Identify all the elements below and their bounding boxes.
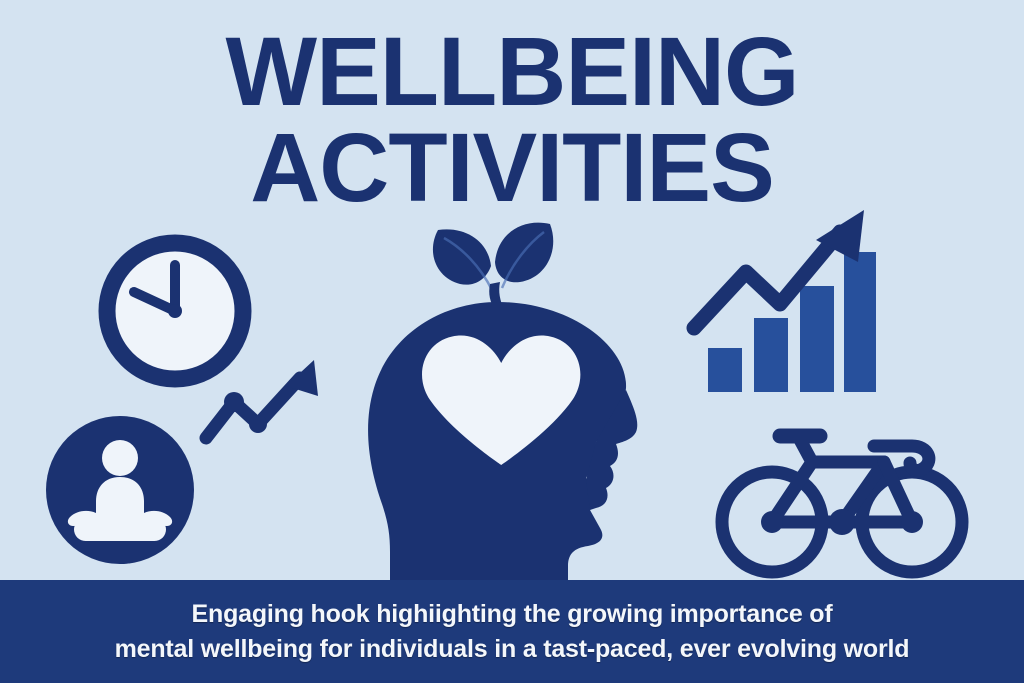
title-line-wellbeing: WELLBEING [0, 26, 1024, 118]
growth-chart-icon [688, 206, 876, 398]
head-heart-icon [338, 222, 658, 594]
title-line-activities: ACTIVITIES [0, 122, 1024, 214]
meditation-icon [44, 414, 196, 566]
chart-bar-3 [800, 286, 834, 392]
chart-bar-2 [754, 318, 788, 392]
footer-caption-line-2: mental wellbeing for individuals in a ta… [115, 632, 910, 667]
footer-caption-band: Engaging hook highiighting the growing i… [0, 580, 1024, 683]
infographic-poster: WELLBEING ACTIVITIES [0, 0, 1024, 683]
bicycle-icon [716, 418, 968, 576]
chart-bar-4 [844, 252, 876, 392]
chart-trend-arrow [694, 210, 864, 328]
footer-caption-line-1: Engaging hook highiighting the growing i… [192, 597, 833, 632]
poster-title: WELLBEING ACTIVITIES [0, 26, 1024, 214]
trend-arrow-icon [196, 352, 336, 448]
chart-bars [708, 252, 876, 392]
chart-bar-1 [708, 348, 742, 392]
leaf-shapes [433, 223, 553, 310]
